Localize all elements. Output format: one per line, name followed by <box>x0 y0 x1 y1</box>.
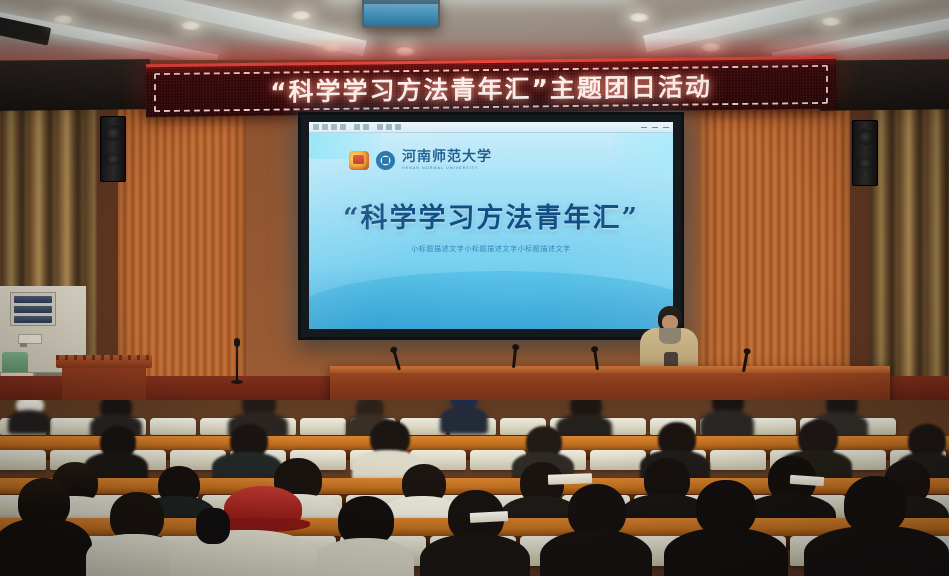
audience-member <box>804 476 949 576</box>
toolbar-icon[interactable] <box>331 124 337 130</box>
led-banner-text: “科学学习方法青年汇”主题团日活动 <box>146 59 836 117</box>
wall-outlet <box>18 334 42 344</box>
presentation-toolbar[interactable] <box>309 122 673 133</box>
wall-speaker-left <box>100 116 126 182</box>
audience-member <box>86 492 182 576</box>
seat <box>300 418 346 435</box>
slide-decor-corner <box>613 133 673 173</box>
audience-member <box>0 478 86 576</box>
university-emblem-icon <box>349 151 369 170</box>
toolbar-icon[interactable] <box>313 124 319 130</box>
projection-screen: 河南师范大学 HENAN NORMAL UNIVERSITY “科学学习方法青年… <box>309 122 673 329</box>
audience-member <box>316 496 414 576</box>
audience-torso <box>804 526 949 576</box>
podium-trim <box>56 355 152 360</box>
maximize-icon[interactable] <box>652 127 658 128</box>
projection-screen-frame: 河南师范大学 HENAN NORMAL UNIVERSITY “科学学习方法青年… <box>298 112 684 340</box>
audience-member-red-cap <box>170 486 320 576</box>
pointer-icon[interactable] <box>377 124 383 130</box>
audience-member <box>420 490 530 576</box>
audience-torso <box>8 410 50 434</box>
audience-light-jacket <box>316 538 414 576</box>
rack-module <box>14 316 52 323</box>
speaker-cone-icon <box>105 153 121 165</box>
university-name-cn: 河南师范大学 <box>402 150 492 164</box>
toolbar-icon[interactable] <box>340 124 346 130</box>
lecture-hall-photo: “科学学习方法青年汇”主题团日活动 <box>0 0 949 576</box>
close-window-icon[interactable] <box>663 127 669 128</box>
speaker-cone-icon <box>857 157 873 169</box>
wood-panel-right <box>700 104 850 394</box>
seat <box>150 418 196 435</box>
wall-equipment-rack <box>10 292 56 326</box>
wall-speaker-right <box>852 120 878 186</box>
audience-torso <box>0 518 92 576</box>
outlet-socket-icon <box>20 343 27 347</box>
banner-housing-right <box>820 59 949 111</box>
audience-torso <box>540 530 652 576</box>
podium-top <box>56 355 152 368</box>
floor-microphone <box>236 344 238 382</box>
audience-torso <box>420 534 530 576</box>
audience-torso <box>664 528 788 576</box>
minimize-icon[interactable] <box>641 127 647 128</box>
banner-housing-left <box>0 59 150 111</box>
led-banner: “科学学习方法青年汇”主题团日活动 <box>146 56 836 117</box>
audience-light-jacket <box>86 534 182 576</box>
save-icon[interactable] <box>395 124 401 130</box>
water-dispenser <box>2 352 28 374</box>
audience-member <box>8 400 50 432</box>
toolbar-icon[interactable] <box>363 124 369 130</box>
audience-seating <box>0 400 949 576</box>
audience-member <box>540 484 652 576</box>
curtain-right <box>870 98 949 404</box>
audience-member <box>440 400 488 434</box>
close-icon[interactable] <box>386 124 392 130</box>
open-book <box>470 511 508 523</box>
slide-title: “科学学习方法青年汇” <box>309 196 673 235</box>
window-controls[interactable] <box>641 127 669 128</box>
slide-subtitle: 小标题描述文字小标题描述文字小标题描述文字 <box>309 244 673 254</box>
downlight-icon <box>180 20 202 31</box>
university-seal-icon <box>376 151 395 170</box>
downlight-icon <box>628 12 650 23</box>
wood-panel-left <box>118 104 246 394</box>
downlight-icon <box>820 16 842 27</box>
audience-hair <box>196 508 230 544</box>
downlight-icon <box>52 14 74 25</box>
open-book <box>548 473 592 485</box>
presenter-scarf <box>659 328 681 344</box>
audience-member <box>664 480 788 576</box>
toolbar-icon[interactable] <box>322 124 328 130</box>
audience-torso <box>440 406 488 434</box>
toolbar-icon[interactable] <box>354 124 360 130</box>
audience-light-jacket <box>170 530 320 576</box>
university-name-en: HENAN NORMAL UNIVERSITY <box>402 166 492 170</box>
head-table-top <box>330 366 890 373</box>
rack-module <box>14 306 52 313</box>
university-logo: 河南师范大学 HENAN NORMAL UNIVERSITY <box>349 150 492 170</box>
downlight-icon <box>290 10 312 21</box>
ceiling-projector <box>362 0 440 28</box>
speaker-cone-icon <box>857 129 873 145</box>
projector-vent <box>364 0 438 4</box>
rack-module <box>14 296 52 303</box>
speaker-cone-icon <box>105 125 121 141</box>
